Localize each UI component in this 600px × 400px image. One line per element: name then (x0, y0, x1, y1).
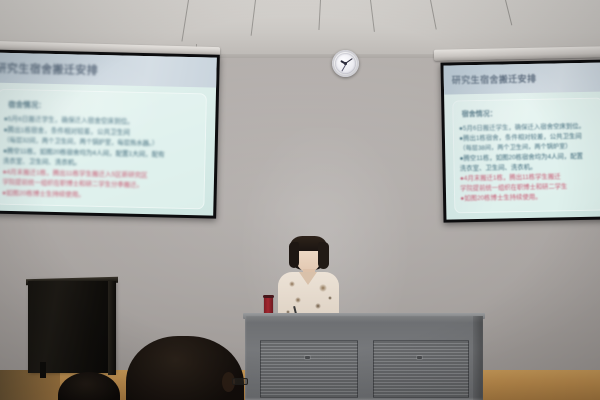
left-projection-screen: 研究生宿舍搬迁安排 宿舍情况： ●5月6日搬迁学生，确保迁入宿舍空床到位。 ●腾… (0, 49, 220, 218)
right-slide: 研究生宿舍搬迁安排 宿舍情况： ●5月6日搬迁学生，确保迁入宿舍空床到位。 ●腾… (444, 62, 600, 219)
left-slide-heading: 宿舍情况： (8, 99, 207, 114)
left-slide-body: 宿舍情况： ●5月6日搬迁学生，确保迁入宿舍空床到位。 ●腾出1栋宿舍，条件相对… (0, 89, 207, 209)
right-slide-bullet-highlight: ●如图20栋博士生持续使用。 (460, 192, 600, 205)
presenter-hair-left (289, 242, 299, 268)
podium-right-side (473, 316, 483, 400)
podium-cabinet (245, 316, 483, 400)
piano (28, 281, 114, 373)
right-slide-title-bar: 研究生宿舍搬迁安排 (444, 62, 600, 94)
right-slide-heading: 宿舍情况： (462, 107, 600, 120)
left-slide-title: 研究生宿舍搬迁安排 (0, 60, 98, 78)
piano-leg (40, 362, 46, 378)
wall-clock (332, 50, 359, 77)
left-slide: 研究生宿舍搬迁安排 宿舍情况： ●5月6日搬迁学生，确保迁入宿舍空床到位。 ●腾… (0, 52, 217, 215)
presenter (272, 236, 344, 320)
audience-glasses (232, 378, 248, 385)
podium-door-right[interactable] (373, 340, 469, 398)
right-projection-screen: 研究生宿舍搬迁安排 宿舍情况： ●5月6日搬迁学生，确保迁入宿舍空床到位。 ●腾… (440, 59, 600, 222)
right-slide-body: 宿舍情况： ●5月6日搬迁学生，确保迁入宿舍空床到位。 ●腾出1栋宿舍，条件相对… (453, 98, 600, 213)
piano-side-panel (108, 281, 116, 375)
presenter-collar (299, 272, 317, 285)
clock-center-pin (344, 62, 346, 64)
podium-lock-right[interactable] (417, 356, 422, 359)
left-slide-title-bar: 研究生宿舍搬迁安排 (0, 52, 217, 87)
drink-cup-lid (263, 295, 274, 298)
right-slide-title: 研究生宿舍搬迁安排 (452, 72, 537, 87)
presenter-hair-right (318, 242, 329, 269)
floor-shadow-left (0, 370, 60, 400)
clock-face (335, 53, 356, 74)
podium-lock-left[interactable] (305, 356, 310, 359)
lecture-hall-photo: 研究生宿舍搬迁安排 宿舍情况： ●5月6日搬迁学生，确保迁入宿舍空床到位。 ●腾… (0, 0, 600, 400)
podium-door-left[interactable] (260, 340, 358, 398)
